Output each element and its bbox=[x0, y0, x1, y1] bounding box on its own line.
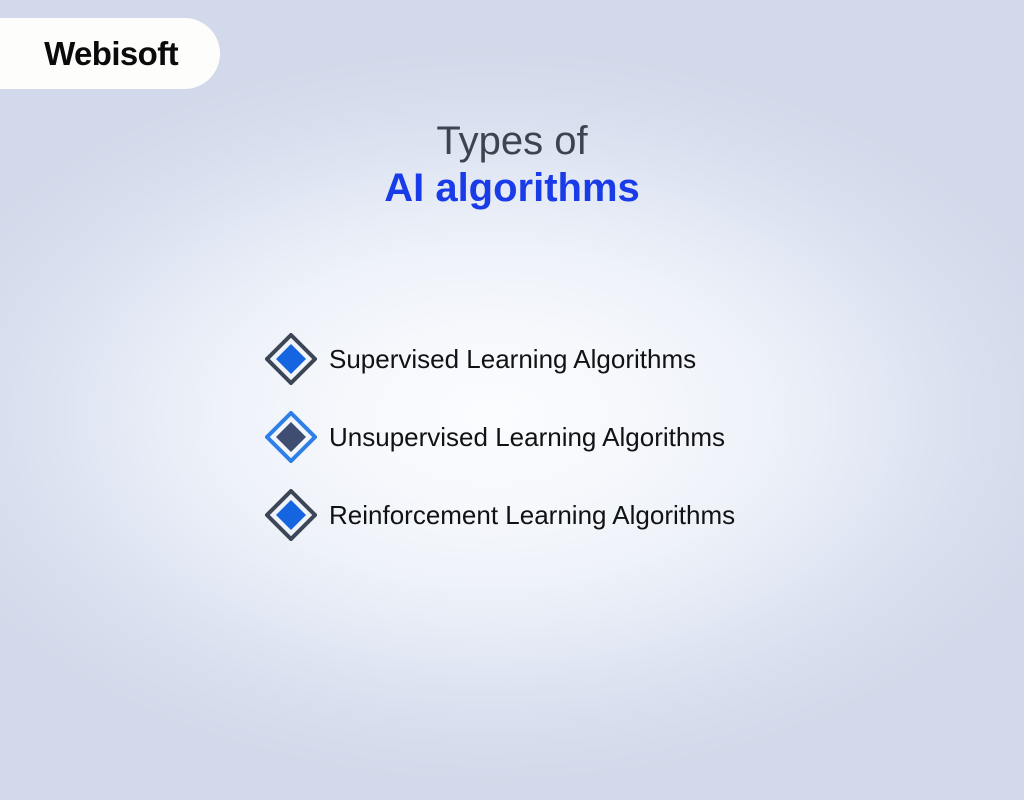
page-title: Types of AI algorithms bbox=[0, 118, 1024, 212]
brand-logo-badge: Webisoft bbox=[0, 18, 220, 89]
list-item: Reinforcement Learning Algorithms bbox=[265, 489, 965, 541]
list-item-label: Supervised Learning Algorithms bbox=[329, 345, 696, 374]
diamond-icon bbox=[265, 333, 317, 385]
list-item: Unsupervised Learning Algorithms bbox=[265, 411, 965, 463]
list-item-label: Unsupervised Learning Algorithms bbox=[329, 423, 725, 452]
list-item-label: Reinforcement Learning Algorithms bbox=[329, 501, 735, 530]
page-title-line-1: Types of bbox=[0, 118, 1024, 165]
diamond-icon bbox=[265, 489, 317, 541]
algorithm-types-list: Supervised Learning Algorithms Unsupervi… bbox=[265, 333, 965, 567]
list-item: Supervised Learning Algorithms bbox=[265, 333, 965, 385]
brand-logo-text: Webisoft bbox=[44, 37, 178, 70]
page-title-line-2: AI algorithms bbox=[0, 165, 1024, 212]
diamond-icon bbox=[265, 411, 317, 463]
